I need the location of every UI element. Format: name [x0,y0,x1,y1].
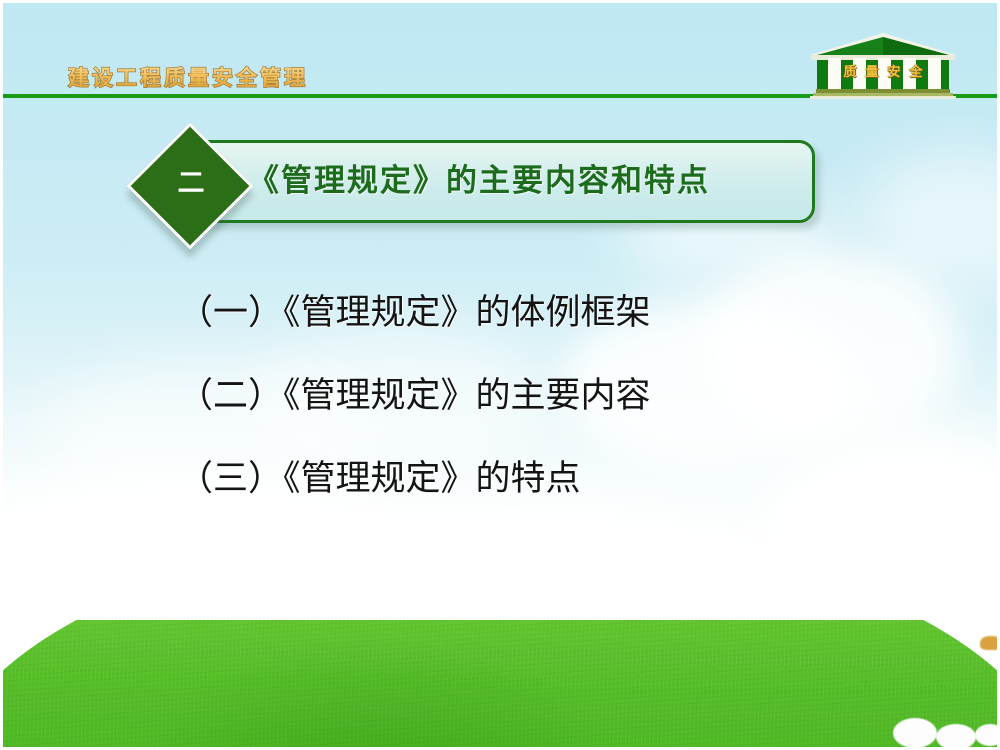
bush-decoration [980,636,1000,650]
list-item: （一）《管理规定》的体例框架 [178,296,938,331]
section-number-badge: 二 [129,126,253,248]
sheep-decoration [975,724,1000,746]
page-title: 建设工程质量安全管理 [68,62,308,92]
section-number: 二 [129,170,253,197]
sheep-decoration [936,724,976,750]
quality-safety-building-logo: 质量安全 [808,31,958,99]
list-item: （三）《管理规定》的特点 [178,462,938,497]
sheep-decoration [893,718,937,748]
section-title: 《管理规定》的主要内容和特点 [248,155,808,200]
grass-field [0,620,1000,750]
content-list: （一）《管理规定》的体例框架 （二）《管理规定》的主要内容 （三）《管理规定》的… [178,296,938,545]
list-item: （二）《管理规定》的主要内容 [178,379,938,414]
logo-label: 质量安全 [808,61,958,80]
slide-canvas: 建设工程质量安全管理 建设工程质量安全管理 质量安全 《管理规定》的主要内容和 [0,0,1000,750]
